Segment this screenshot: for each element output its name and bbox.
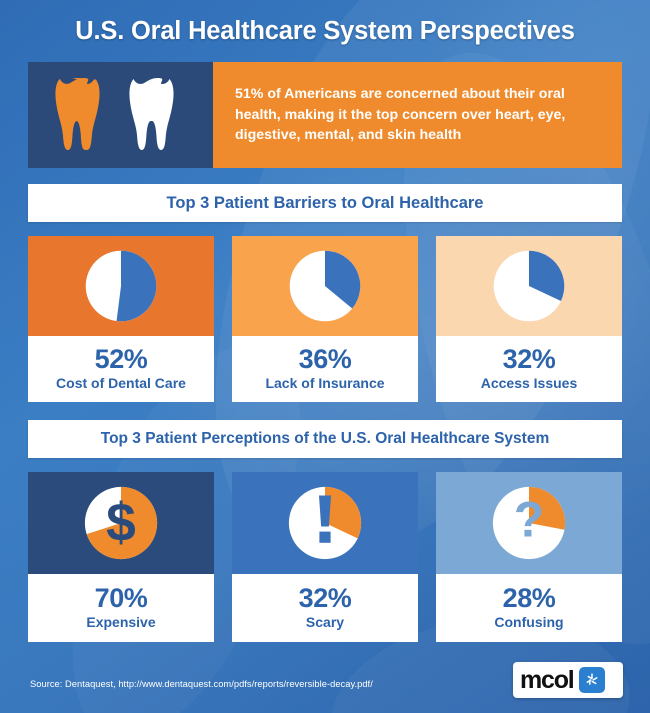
tooth-icon-white	[127, 76, 189, 154]
perception-card[interactable]: ? 28% Confusing	[436, 472, 622, 642]
source-citation: Source: Dentaquest, http://www.dentaques…	[30, 679, 373, 689]
barrier-label: Access Issues	[481, 375, 578, 391]
perception-card[interactable]: $ 70% Expensive	[28, 472, 214, 642]
barrier-percent: 36%	[299, 345, 352, 373]
perception-card-visual: $	[28, 472, 214, 574]
perception-card-caption: 70% Expensive	[28, 574, 214, 642]
hero-statement: 51% of Americans are concerned about the…	[213, 62, 622, 168]
question-glyph: ?	[514, 492, 544, 548]
perception-label: Confusing	[494, 614, 563, 630]
infographic-root: U.S. Oral Healthcare System Perspectives…	[0, 0, 650, 713]
barrier-label: Lack of Insurance	[265, 375, 384, 391]
barrier-label: Cost of Dental Care	[56, 375, 186, 391]
barrier-percent: 32%	[503, 345, 556, 373]
perception-percent: 28%	[503, 584, 556, 612]
barrier-percent: 52%	[95, 345, 148, 373]
pie-chart-icon	[79, 244, 163, 328]
perception-label: Scary	[306, 614, 344, 630]
perception-percent: 32%	[299, 584, 352, 612]
perception-percent: 70%	[95, 584, 148, 612]
barriers-card-row: 52% Cost of Dental Care 36% Lack of Insu…	[28, 236, 622, 402]
barrier-card-caption: 52% Cost of Dental Care	[28, 336, 214, 402]
perception-label: Expensive	[86, 614, 155, 630]
tooth-icon-orange	[53, 76, 115, 154]
barrier-card-visual	[28, 236, 214, 336]
section-heading-perceptions: Top 3 Patient Perceptions of the U.S. Or…	[28, 420, 622, 458]
barrier-card-visual	[436, 236, 622, 336]
barrier-card-caption: 36% Lack of Insurance	[232, 336, 418, 402]
perception-card-caption: 28% Confusing	[436, 574, 622, 642]
mcol-logo[interactable]: mcol	[513, 662, 623, 698]
page-title: U.S. Oral Healthcare System Perspectives	[0, 17, 650, 46]
section-heading-barriers: Top 3 Patient Barriers to Oral Healthcar…	[28, 184, 622, 222]
dollar-glyph: $	[106, 494, 136, 553]
barrier-card[interactable]: 52% Cost of Dental Care	[28, 236, 214, 402]
perception-card-caption: 32% Scary	[232, 574, 418, 642]
pie-chart-icon	[487, 244, 571, 328]
perception-card-visual	[232, 472, 418, 574]
perceptions-card-row: $ 70% Expensive 32% Scary	[28, 472, 622, 642]
asterisk-icon	[579, 667, 605, 693]
mcol-logo-text: mcol	[520, 668, 574, 693]
dollar-sign-icon: $	[78, 480, 164, 566]
hero-banner: 51% of Americans are concerned about the…	[28, 62, 622, 168]
hero-icon-group	[28, 62, 213, 168]
barrier-card-visual	[232, 236, 418, 336]
perception-card-visual: ?	[436, 472, 622, 574]
barrier-card-caption: 32% Access Issues	[436, 336, 622, 402]
question-mark-icon: ?	[486, 480, 572, 566]
barrier-card[interactable]: 36% Lack of Insurance	[232, 236, 418, 402]
exclamation-mark-icon	[282, 480, 368, 566]
barrier-card[interactable]: 32% Access Issues	[436, 236, 622, 402]
perception-card[interactable]: 32% Scary	[232, 472, 418, 642]
pie-chart-icon	[283, 244, 367, 328]
